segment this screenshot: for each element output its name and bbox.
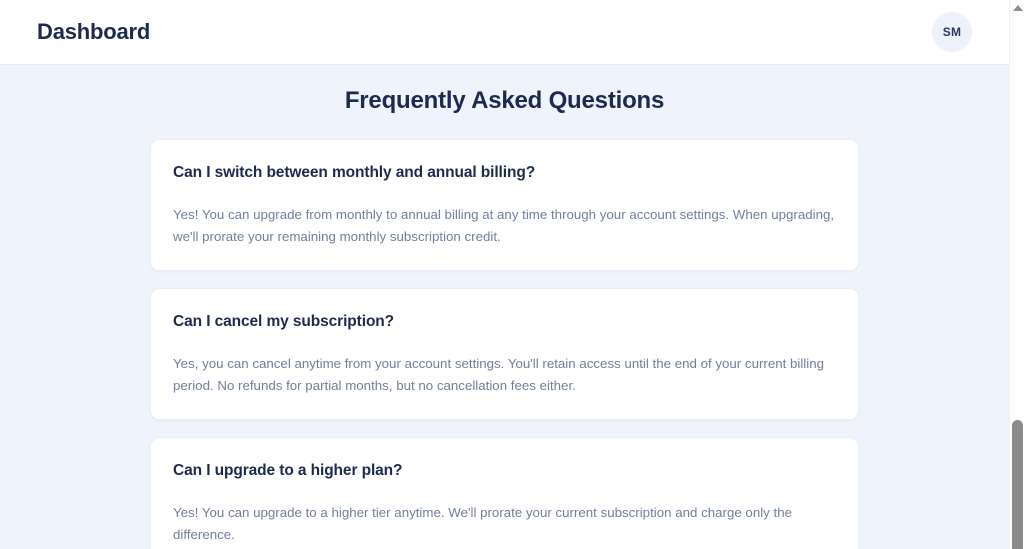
faq-section-heading: Frequently Asked Questions	[0, 87, 1009, 115]
faq-question: Can I cancel my subscription?	[173, 313, 836, 331]
faq-answer: Yes! You can upgrade to a higher tier an…	[173, 502, 836, 545]
scrollbar-thumb[interactable]	[1012, 420, 1023, 549]
faq-list: Can I switch between monthly and annual …	[150, 139, 859, 549]
scrollbar-track[interactable]	[1010, 15, 1024, 549]
main-content: Frequently Asked Questions Can I switch …	[0, 65, 1009, 549]
faq-answer: Yes! You can upgrade from monthly to ann…	[173, 204, 836, 247]
top-header-bar: Dashboard SM	[0, 0, 1009, 65]
faq-item[interactable]: Can I switch between monthly and annual …	[150, 139, 859, 271]
browser-viewport: Dashboard SM Frequently Asked Questions …	[0, 0, 1024, 549]
faq-question: Can I upgrade to a higher plan?	[173, 462, 836, 480]
avatar[interactable]: SM	[932, 12, 972, 52]
faq-question: Can I switch between monthly and annual …	[173, 164, 836, 182]
page-title: Dashboard	[37, 19, 150, 45]
avatar-initials: SM	[943, 25, 962, 39]
scroll-up-arrow-icon[interactable]	[1010, 0, 1024, 15]
faq-item[interactable]: Can I upgrade to a higher plan? Yes! You…	[150, 437, 859, 549]
faq-answer: Yes, you can cancel anytime from your ac…	[173, 353, 836, 396]
page-scroll-area: Dashboard SM Frequently Asked Questions …	[0, 0, 1009, 549]
vertical-scrollbar[interactable]	[1009, 0, 1024, 549]
faq-item[interactable]: Can I cancel my subscription? Yes, you c…	[150, 288, 859, 420]
